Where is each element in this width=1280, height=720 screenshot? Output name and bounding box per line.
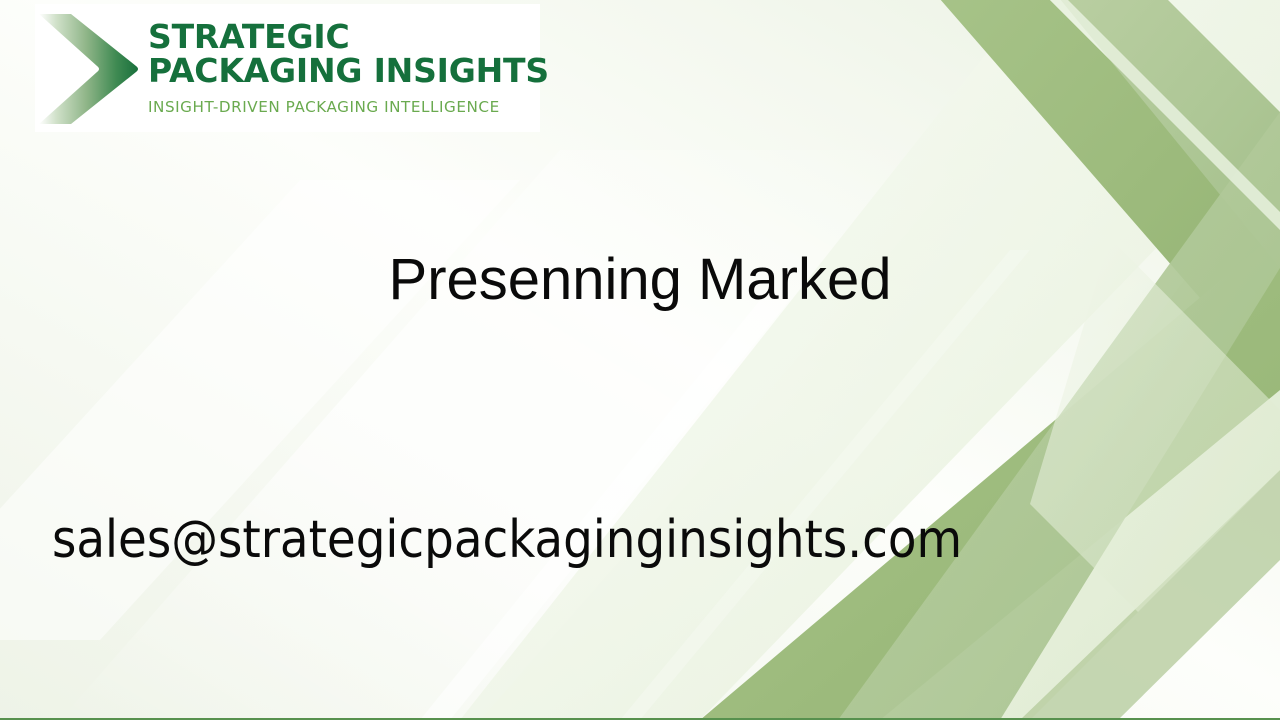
contact-email: sales@strategicpackaginginsights.com	[52, 512, 962, 569]
logo-name-line-1: STRATEGIC	[148, 20, 549, 54]
presentation-slide: STRATEGIC PACKAGING INSIGHTS INSIGHT-DRI…	[0, 0, 1280, 720]
chevron-arrow-mark-icon	[35, 4, 140, 132]
logo-tagline: INSIGHT-DRIVEN PACKAGING INTELLIGENCE	[148, 98, 549, 116]
company-logo: STRATEGIC PACKAGING INSIGHTS INSIGHT-DRI…	[35, 4, 540, 132]
slide-title: Presenning Marked	[0, 248, 1280, 312]
logo-name-line-2: PACKAGING INSIGHTS	[148, 54, 549, 88]
logo-wordmark: STRATEGIC PACKAGING INSIGHTS INSIGHT-DRI…	[140, 4, 549, 132]
